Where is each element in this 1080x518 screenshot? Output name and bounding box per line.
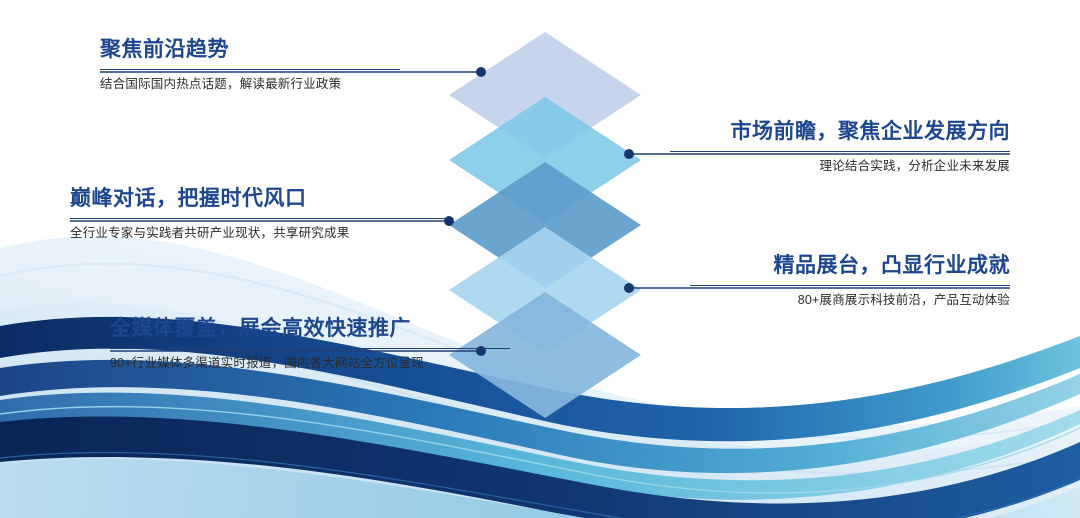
wave-ribbon-cyan bbox=[0, 393, 1080, 500]
callout-subtitle-3: 全行业专家与实践者共研产业现状，共享研究成果 bbox=[70, 225, 450, 241]
callout-title-3: 巅峰对话，把握时代风口 bbox=[70, 187, 450, 211]
callout-title-2: 市场前瞻，聚焦企业发展方向 bbox=[670, 120, 1010, 144]
callout-rule-3 bbox=[70, 218, 450, 219]
callout-focus-frontier-trends: 聚焦前沿趋势 结合国际国内热点话题，解读最新行业政策 bbox=[100, 38, 400, 92]
callout-subtitle-5: 90+行业媒体多渠道实时报道，国内各大网站全方位呈现 bbox=[110, 355, 510, 371]
connector-dot-1 bbox=[476, 67, 486, 77]
wave-highlight-2 bbox=[0, 452, 1080, 518]
callout-all-media-coverage: 全媒体覆盖，展会高效快速推广 90+行业媒体多渠道实时报道，国内各大网站全方位呈… bbox=[110, 317, 510, 371]
wave-highlight-1 bbox=[0, 407, 1080, 493]
connector-dot-2 bbox=[624, 149, 634, 159]
diamond-1 bbox=[449, 32, 641, 158]
callout-rule-5 bbox=[110, 348, 510, 349]
callout-summit-dialogue: 巅峰对话，把握时代风口 全行业专家与实践者共研产业现状，共享研究成果 bbox=[70, 187, 450, 241]
callout-rule-2 bbox=[670, 151, 1010, 152]
slide-canvas: 聚焦前沿趋势 结合国际国内热点话题，解读最新行业政策 市场前瞻，聚焦企业发展方向… bbox=[0, 0, 1080, 518]
callout-subtitle-4: 80+展商展示科技前沿，产品互动体验 bbox=[690, 292, 1010, 308]
connector-dot-4 bbox=[624, 283, 634, 293]
callout-title-1: 聚焦前沿趋势 bbox=[100, 38, 400, 62]
callout-rule-4 bbox=[690, 285, 1010, 286]
callout-title-4: 精品展台，凸显行业成就 bbox=[690, 254, 1010, 278]
diamond-3 bbox=[449, 162, 641, 288]
wave-ribbon-deep bbox=[0, 416, 1080, 518]
callout-premium-booth: 精品展台，凸显行业成就 80+展商展示科技前沿，产品互动体验 bbox=[690, 254, 1010, 308]
callout-title-5: 全媒体覆盖，展会高效快速推广 bbox=[110, 317, 510, 341]
callout-market-foresight: 市场前瞻，聚焦企业发展方向 理论结合实践，分析企业未来发展 bbox=[670, 120, 1010, 174]
wave-ribbon-bottom-pale bbox=[0, 459, 1080, 518]
callout-rule-1 bbox=[100, 69, 400, 70]
callout-subtitle-1: 结合国际国内热点话题，解读最新行业政策 bbox=[100, 76, 400, 92]
wave-ribbon-mid bbox=[0, 360, 1080, 473]
callout-subtitle-2: 理论结合实践，分析企业未来发展 bbox=[670, 158, 1010, 174]
diamond-2 bbox=[449, 97, 641, 223]
